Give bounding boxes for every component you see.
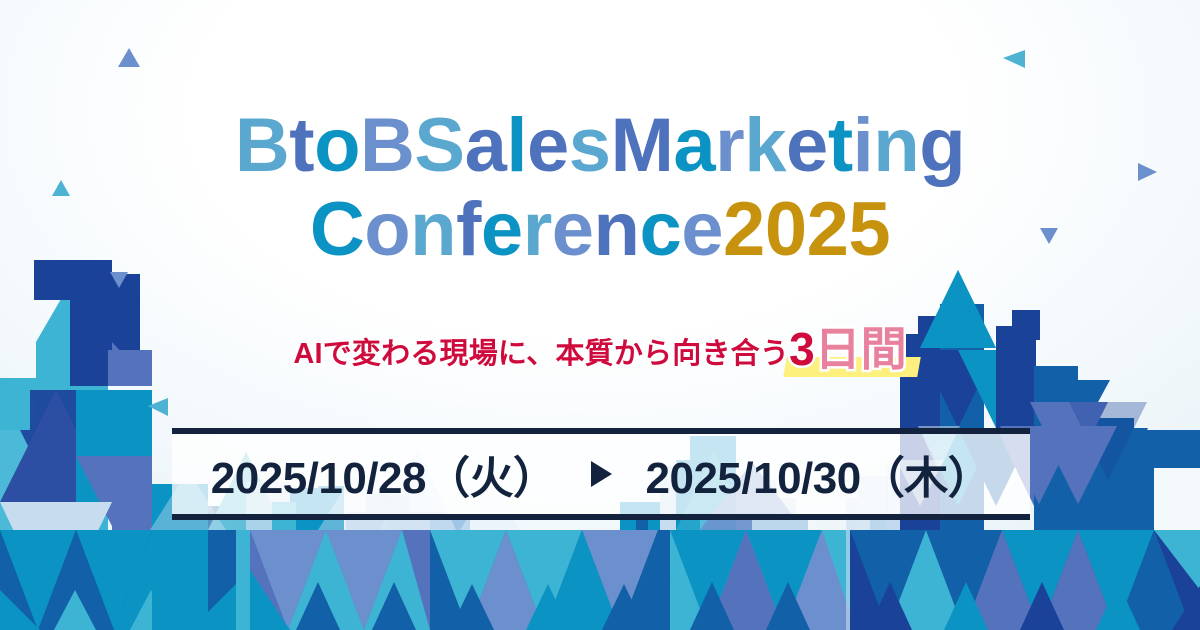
title-letter: k (744, 103, 786, 188)
play-triangle-icon (591, 461, 612, 487)
title-letter: n (410, 187, 456, 272)
title-letter: n (873, 103, 919, 188)
event-banner: BtoBSalesMarketing Conference2025 AIで変わる… (0, 0, 1200, 630)
title-letter: o (364, 187, 410, 272)
title-letter: e (681, 187, 723, 272)
title-letter: i (853, 103, 874, 188)
duration-unit: 日間 (815, 323, 907, 375)
title-letter: 5 (848, 187, 890, 272)
title-letter: o (314, 103, 360, 188)
triangle-down-icon (110, 272, 128, 288)
title-letter: s (569, 103, 611, 188)
banner-subtitle: AIで変わる現場に、本質から向き合う3日間 (0, 313, 1200, 379)
triangle-left-icon (1003, 50, 1025, 68)
triangle-left-icon (148, 398, 168, 416)
title-letter: n (594, 187, 640, 272)
title-letter: r (715, 103, 744, 188)
banner-subtitle-emphasis: 3日間 (789, 313, 907, 379)
title-letter: r (523, 187, 552, 272)
title-letter: C (310, 187, 364, 272)
title-letter: e (786, 103, 828, 188)
title-letter: t (289, 103, 314, 188)
title-letter: t (828, 103, 853, 188)
title-letter: e (481, 187, 523, 272)
banner-subtitle-lead: AIで変わる現場に、本質から向き合う (293, 338, 789, 370)
banner-title-line-1: BtoBSalesMarketing (235, 103, 965, 188)
event-end-date: 2025/10/30（木） (646, 442, 992, 506)
title-letter: B (360, 103, 414, 188)
title-letter: e (527, 103, 569, 188)
title-letter: g (919, 103, 965, 188)
event-date-band: 2025/10/28（火） 2025/10/30（木） (172, 428, 1030, 520)
banner-subtitle-emphasis-text: 3日間 (789, 323, 907, 375)
title-letter: a (673, 103, 715, 188)
title-letter: c (639, 187, 681, 272)
triangle-up-icon (118, 48, 140, 67)
title-letter: S (414, 103, 464, 188)
title-letter: 0 (765, 187, 807, 272)
title-letter: 2 (807, 187, 849, 272)
banner-title: BtoBSalesMarketing Conference2025 (0, 104, 1200, 272)
title-letter: 2 (723, 187, 765, 272)
title-letter: e (552, 187, 594, 272)
title-letter: M (611, 103, 674, 188)
title-letter: B (235, 103, 289, 188)
banner-title-line-2: Conference2025 (0, 188, 1200, 272)
duration-number: 3 (789, 323, 815, 375)
title-letter: l (506, 103, 527, 188)
event-start-date: 2025/10/28（火） (211, 442, 557, 506)
title-letter: a (465, 103, 507, 188)
title-letter: f (456, 187, 481, 272)
